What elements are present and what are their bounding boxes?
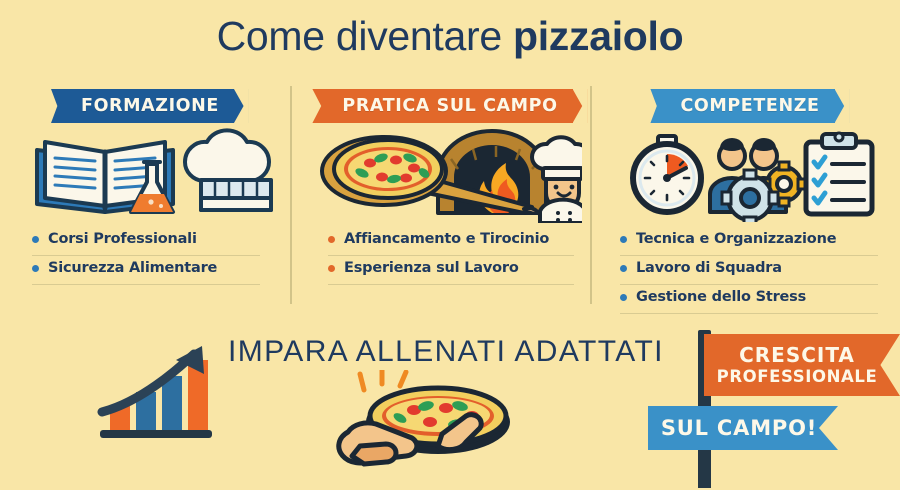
banner-pratica-sul-campo: PRATICA SUL CAMPO (312, 89, 587, 123)
chef-hat-icon (185, 130, 271, 210)
growth-chart-art (86, 330, 226, 450)
list-item: Gestione dello Stress (620, 285, 878, 314)
banner-formazione-wrap: FORMAZIONE (0, 87, 300, 125)
bullet-dot-icon (620, 236, 627, 243)
bullets-pratica: Affiancamento e Tirocinio Esperienza sul… (300, 227, 600, 285)
list-item-label: Corsi Professionali (48, 231, 197, 247)
pizza-hands-art (330, 370, 520, 485)
page-title: Come diventare pizzaiolo (0, 11, 900, 61)
flag-sul-campo: SUL CAMPO! (648, 406, 838, 450)
list-item-label: Esperienza sul Lavoro (344, 260, 519, 276)
bullet-dot-icon (328, 236, 335, 243)
list-item: Affiancamento e Tirocinio (328, 227, 574, 256)
page-title-prefix: Come diventare (217, 13, 513, 59)
competenze-icon-group (622, 128, 878, 222)
bullet-dot-icon (620, 294, 627, 301)
banner-pratica-wrap: PRATICA SUL CAMPO (300, 87, 600, 125)
flag-top-line-1: CRESCITA (739, 343, 855, 367)
list-item-label: Sicurezza Alimentare (48, 260, 217, 276)
bullets-competenze: Tecnica e Organizzazione Lavoro di Squad… (600, 227, 900, 314)
column-pratica-sul-campo: PRATICA SUL CAMPO (300, 82, 600, 317)
flag-pole-segment-bottom (698, 450, 711, 488)
clipboard-checklist-icon (806, 133, 872, 214)
team-gears-icon (710, 138, 806, 222)
bullet-dot-icon (32, 236, 39, 243)
bottom-slogan: IMPARA ALLENATI ADATTATI (228, 334, 658, 370)
flag-top-line-2: PROFESSIONALE (717, 367, 878, 387)
formazione-icon-group (25, 128, 275, 222)
bullets-formazione: Corsi Professionali Sicurezza Alimentare (0, 227, 300, 285)
page-title-keyword: pizzaiolo (513, 13, 683, 59)
list-item: Tecnica e Organizzazione (620, 227, 878, 256)
column-competenze: COMPETENZE (600, 82, 900, 317)
list-item: Corsi Professionali (32, 227, 260, 256)
flag-crescita-professionale: CRESCITA PROFESSIONALE (704, 334, 900, 396)
flags-group: CRESCITA PROFESSIONALE SUL CAMPO! (640, 322, 900, 488)
stopwatch-icon (633, 136, 701, 212)
bottom-section: IMPARA ALLENATI ADATTATI (0, 322, 900, 488)
bullet-dot-icon (620, 265, 627, 272)
list-item-label: Lavoro di Squadra (636, 260, 782, 276)
art-formazione (0, 127, 300, 223)
columns-section: FORMAZIONE (0, 82, 900, 317)
art-competenze (600, 127, 900, 223)
list-item-label: Tecnica e Organizzazione (636, 231, 836, 247)
bullet-dot-icon (328, 265, 335, 272)
column-formazione: FORMAZIONE (0, 82, 300, 317)
growth-bar-chart-arrow-icon (86, 330, 226, 450)
list-item-label: Affiancamento e Tirocinio (344, 231, 549, 247)
banner-competenze: COMPETENZE (650, 89, 849, 123)
banner-competenze-wrap: COMPETENZE (600, 87, 900, 125)
list-item-label: Gestione dello Stress (636, 289, 806, 305)
list-item: Sicurezza Alimentare (32, 256, 260, 285)
hands-holding-pizza-icon (330, 370, 520, 485)
infographic-canvas: Come diventare pizzaiolo FORMAZIONE (0, 0, 900, 488)
pratica-icon-group (318, 127, 582, 223)
list-item: Esperienza sul Lavoro (328, 256, 574, 285)
art-pratica (300, 127, 600, 223)
bullet-dot-icon (32, 265, 39, 272)
banner-formazione: FORMAZIONE (51, 89, 249, 123)
list-item: Lavoro di Squadra (620, 256, 878, 285)
